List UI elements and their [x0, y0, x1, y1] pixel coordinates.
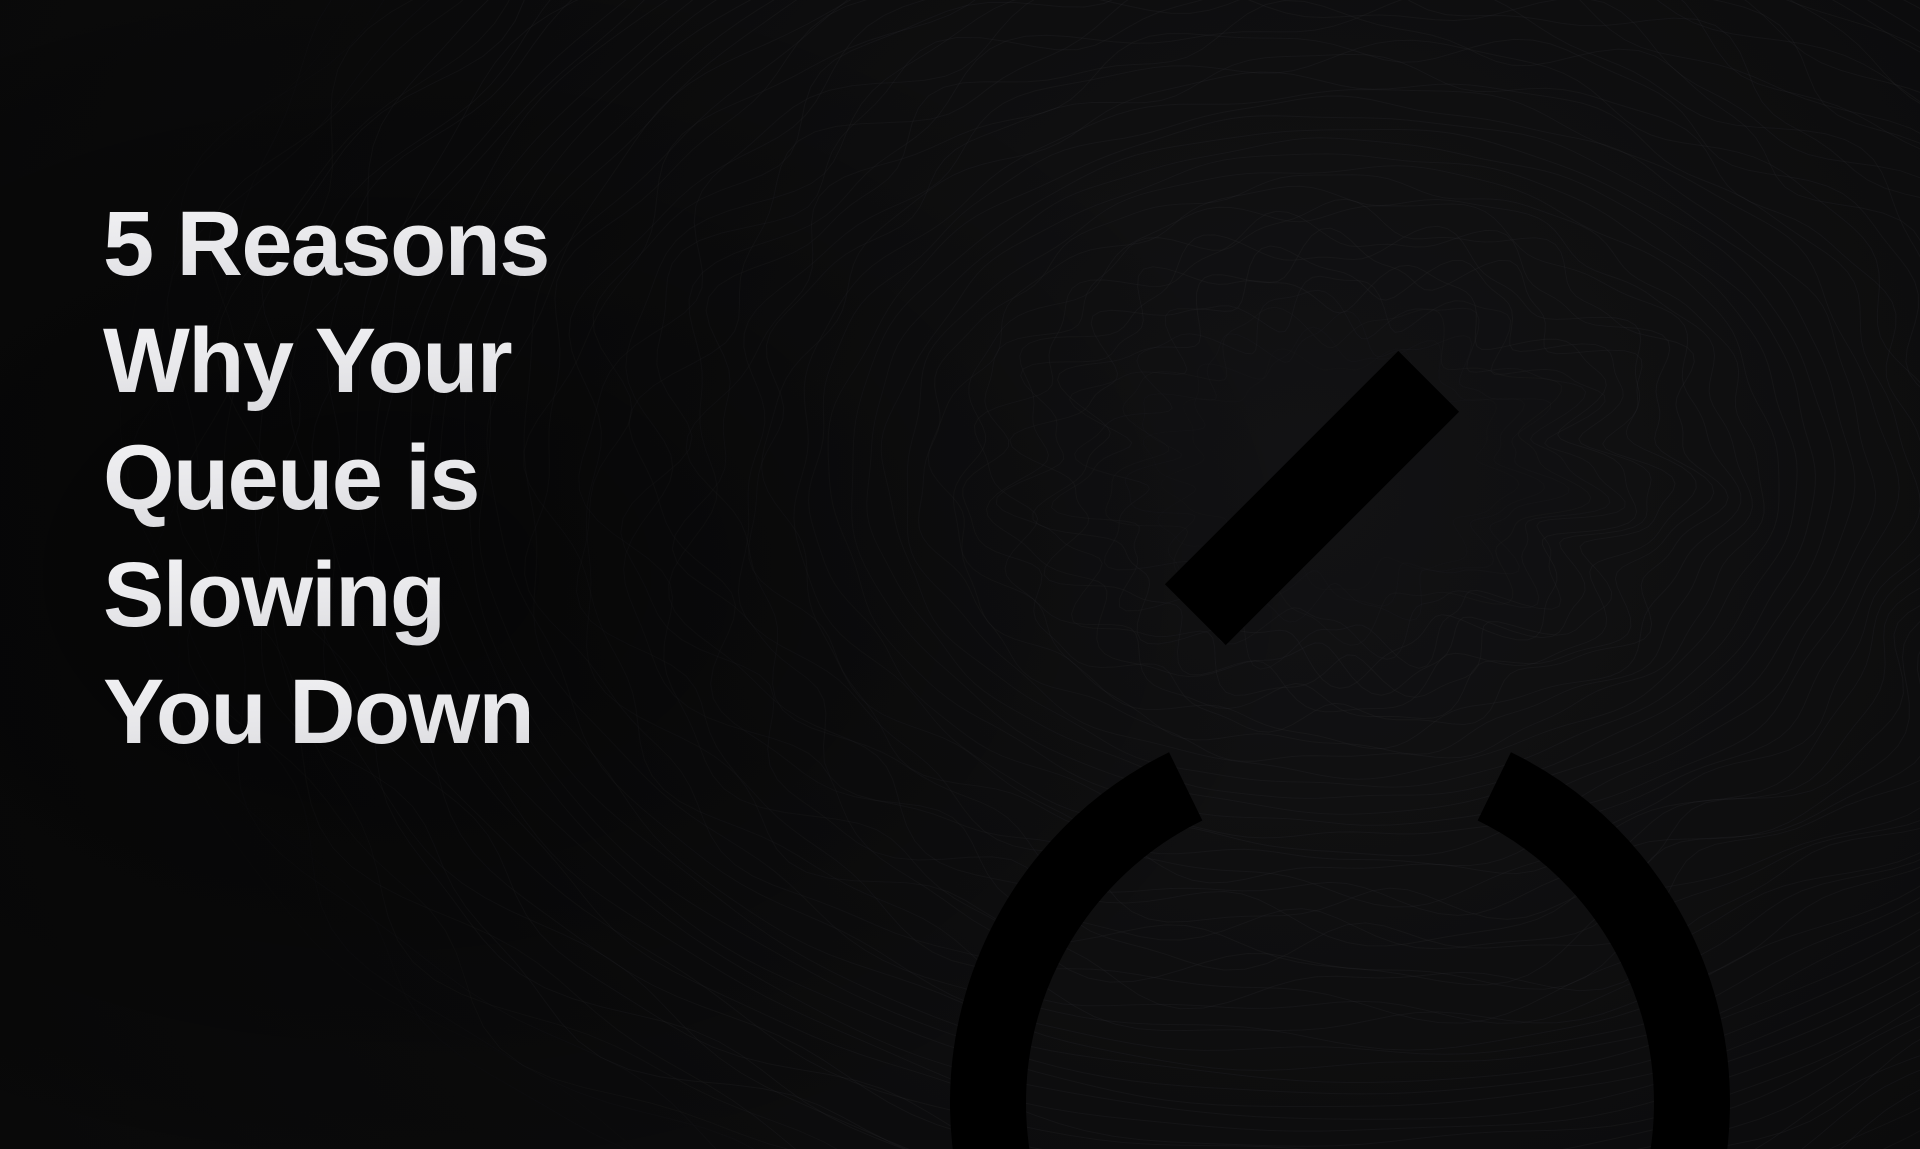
headline-line-3: Queue is [103, 420, 743, 537]
headline-line-4: Slowing [103, 537, 743, 654]
headline-line-1: 5 Reasons [103, 186, 743, 303]
hero-card: 5 Reasons Why Your Queue is Slowing You … [0, 0, 1920, 1149]
headline-line-5: You Down [103, 654, 743, 771]
headline-line-2: Why Your [103, 303, 743, 420]
page-title: 5 Reasons Why Your Queue is Slowing You … [103, 186, 743, 771]
